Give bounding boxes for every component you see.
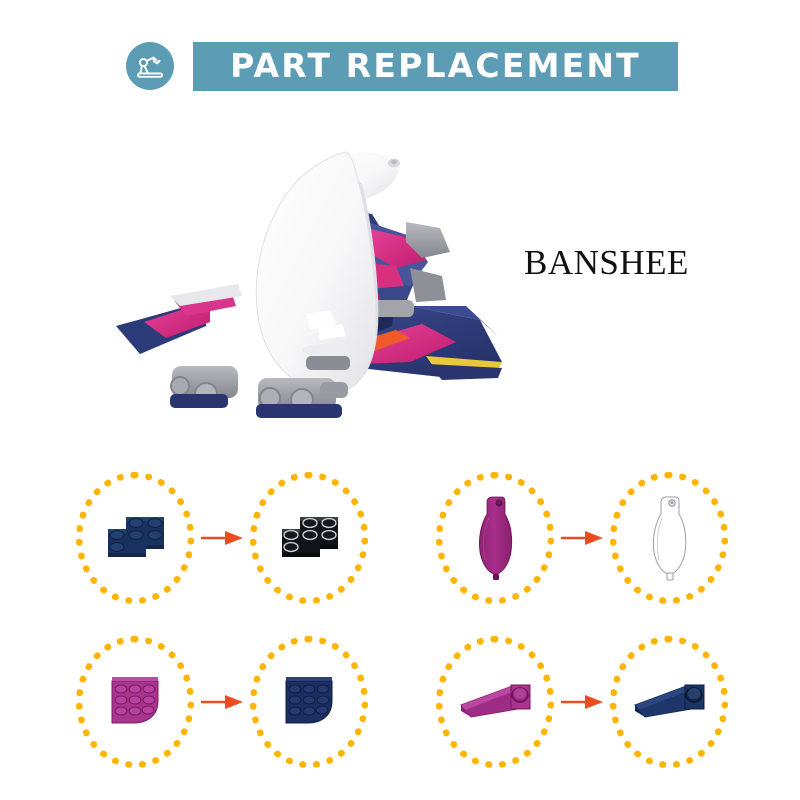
replace-arrow-icon [554,526,610,550]
replace-arrow-icon [554,690,610,714]
brick-navy-wedge-slope [626,652,712,752]
replace-arrow-icon [194,690,250,714]
part-circle-new[interactable] [250,636,368,768]
model-image [110,110,530,430]
page-header: PART REPLACEMENT [0,0,800,120]
brick-magenta-rounded-plate [92,652,178,752]
brick-black-stepped-plate [266,488,352,588]
part-circle-new[interactable] [610,636,728,768]
part-circle-old[interactable] [76,472,194,604]
part-circle-old[interactable] [76,636,194,768]
brick-white-curved-panel [626,488,712,588]
part-circle-old[interactable] [436,472,554,604]
model-name-label: BANSHEE [524,243,689,283]
part-pair [402,463,762,613]
part-circle-new[interactable] [610,472,728,604]
part-pair [402,627,762,777]
replace-arrow-icon [194,526,250,550]
part-pair [42,627,402,777]
page-title: PART REPLACEMENT [230,49,641,82]
brick-navy-rounded-plate [266,652,352,752]
part-replacement-grid [0,455,800,785]
part-circle-old[interactable] [436,636,554,768]
brick-navy-stepped-plate [92,488,178,588]
part-pair [42,463,402,613]
part-row [0,463,800,613]
header-title-bar: PART REPLACEMENT [193,42,678,91]
robot-arm-icon [126,42,174,90]
part-row [0,627,800,777]
brick-magenta-curved-panel [452,488,538,588]
brick-magenta-wedge-slope [452,652,538,752]
part-circle-new[interactable] [250,472,368,604]
